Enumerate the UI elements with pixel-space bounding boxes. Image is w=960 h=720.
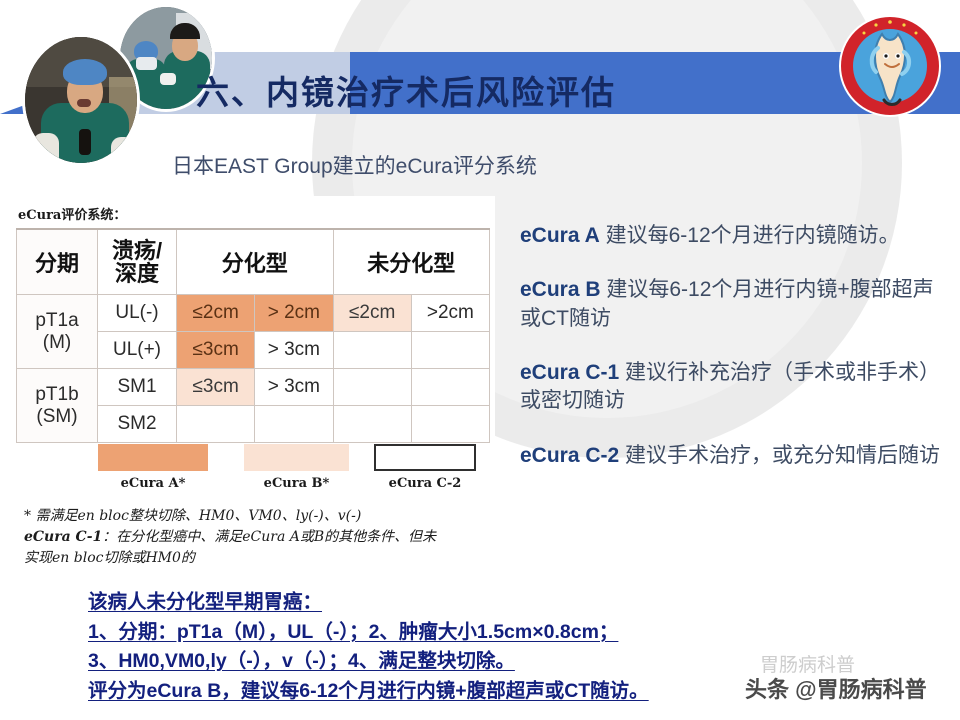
- stage-pt1b-line2: (SM): [17, 406, 97, 428]
- table-row: pT1b (SM) SM1 ≤3cm > 3cm: [17, 369, 490, 406]
- cell-undiff-small-sm2: [333, 406, 411, 443]
- recommendation-ecura-b: eCura B 建议每6-12个月进行内镜+腹部超声或CT随访: [520, 276, 945, 333]
- footnote-line-2-text: ：在分化型癌中、满足eCura A或B的其他条件、但未: [102, 529, 436, 545]
- cell-diff-large-sm2: [255, 406, 333, 443]
- legend-swatch-ecura-b: [244, 444, 349, 471]
- cell-undiff-small-ul-neg: ≤2cm: [333, 295, 411, 332]
- table-header-row: 分期 溃疡/ 深度 分化型 未分化型: [17, 229, 490, 295]
- header-ulcer-depth: 溃疡/ 深度: [98, 229, 177, 295]
- recommendation-code-a: eCura A: [520, 224, 600, 247]
- legend-label-ecura-b: eCura B*: [244, 476, 349, 491]
- legend-swatch-ecura-a: [98, 444, 208, 471]
- cell-undiff-small-sm1: [333, 369, 411, 406]
- cell-undiff-large-sm1: [411, 369, 489, 406]
- recommendation-ecura-c2: eCura C-2 建议手术治疗，或充分知情后随访: [520, 442, 945, 470]
- watermark: 头条 @胃肠病科普: [745, 672, 927, 704]
- cell-undiff-large-ul-neg: >2cm: [411, 295, 489, 332]
- stage-pt1b: pT1b (SM): [17, 369, 98, 443]
- table-row: pT1a (M) UL(-) ≤2cm > 2cm ≤2cm >2cm: [17, 295, 490, 332]
- conclusion-line-1: 该病人未分化型早期胃癌：: [88, 588, 788, 618]
- cell-undiff-large-ul-pos: [411, 332, 489, 369]
- cell-diff-large-sm1: > 3cm: [255, 369, 333, 406]
- ecura-criteria-table: 分期 溃疡/ 深度 分化型 未分化型 pT1a (M) UL(-) ≤2: [16, 228, 490, 443]
- legend-label-ecura-c2: eCura C-2: [374, 476, 476, 491]
- cell-diff-large-ul-neg: > 2cm: [255, 295, 333, 332]
- ecura-figure-panel: eCura评价系统： 分期 溃疡/ 深度 分化型 未分化型 pT1a: [10, 196, 495, 581]
- cell-undiff-large-sm2: [411, 406, 489, 443]
- footnote-line-2: eCura C-1：在分化型癌中、满足eCura A或B的其他条件、但未: [24, 527, 494, 548]
- legend: eCura A* eCura B* eCura C-2: [16, 444, 490, 502]
- footnote-code: eCura C-1: [24, 529, 102, 545]
- legend-swatch-ecura-c2: [374, 444, 476, 471]
- recommendation-text-c2: 建议手术治疗，或充分知情后随访: [625, 444, 940, 467]
- stage-pt1a-line1: pT1a: [17, 310, 97, 332]
- gastro-mascot-logo: [838, 14, 942, 118]
- cell-diff-small-ul-pos: ≤3cm: [177, 332, 255, 369]
- ulcer-ul-negative: UL(-): [98, 295, 177, 332]
- figure-footnote: * 需满足en bloc整块切除、HM0、VM0、ly(-)、v(-) eCur…: [24, 506, 494, 569]
- cell-diff-small-sm2: [177, 406, 255, 443]
- figure-caption: eCura评价系统：: [18, 204, 126, 223]
- cell-undiff-small-ul-pos: [333, 332, 411, 369]
- footnote-line-1: * 需满足en bloc整块切除、HM0、VM0、ly(-)、v(-): [24, 506, 494, 527]
- slide-canvas: 六、内镜治疗术后风险评估 日本EAST Group建立的eCura评分系统 eC…: [0, 0, 960, 720]
- recommendation-code-c2: eCura C-2: [520, 444, 619, 467]
- footnote-line-3: 实现en bloc切除或HM0的: [24, 548, 494, 569]
- conclusion-line-3: 3、HM0,VM0,ly（-），v（-）；4、满足整块切除。: [88, 647, 788, 677]
- page-subtitle: 日本EAST Group建立的eCura评分系统: [172, 150, 537, 180]
- legend-item-ecura-b: eCura B*: [244, 444, 349, 491]
- recommendation-code-c1: eCura C-1: [520, 361, 619, 384]
- stage-pt1b-line1: pT1b: [17, 384, 97, 406]
- footer-spacer: [0, 712, 960, 720]
- cell-diff-large-ul-pos: > 3cm: [255, 332, 333, 369]
- header-undifferentiated: 未分化型: [333, 229, 490, 295]
- header-stage: 分期: [17, 229, 98, 295]
- case-conclusion: 该病人未分化型早期胃癌： 1、分期：pT1a（M），UL（-）；2、肿瘤大小1.…: [88, 588, 788, 707]
- page-title: 六、内镜治疗术后风险评估: [196, 66, 616, 114]
- conclusion-line-4: 评分为eCura B，建议每6-12个月进行内镜+腹部超声或CT随访。: [88, 677, 788, 707]
- ulcer-ul-positive: UL(+): [98, 332, 177, 369]
- conclusion-line-2: 1、分期：pT1a（M），UL（-）；2、肿瘤大小1.5cm×0.8cm；: [88, 618, 788, 648]
- legend-label-ecura-a: eCura A*: [98, 476, 208, 491]
- stage-pt1a-line2: (M): [17, 332, 97, 354]
- depth-sm1: SM1: [98, 369, 177, 406]
- cell-diff-small-sm1: ≤3cm: [177, 369, 255, 406]
- cell-diff-small-ul-neg: ≤2cm: [177, 295, 255, 332]
- legend-item-ecura-c2: eCura C-2: [374, 444, 476, 491]
- recommendation-text-a: 建议每6-12个月进行内镜随访。: [606, 224, 900, 247]
- header-ulcer-line1: 溃疡/: [98, 239, 176, 262]
- legend-item-ecura-a: eCura A*: [98, 444, 208, 491]
- header-ulcer-line2: 深度: [98, 262, 176, 285]
- depth-sm2: SM2: [98, 406, 177, 443]
- recommendation-list: eCura A 建议每6-12个月进行内镜随访。 eCura B 建议每6-12…: [520, 222, 945, 496]
- recommendation-ecura-c1: eCura C-1 建议行补充治疗（手术或非手术）或密切随访: [520, 359, 945, 416]
- recommendation-code-b: eCura B: [520, 278, 601, 301]
- recommendation-ecura-a: eCura A 建议每6-12个月进行内镜随访。: [520, 222, 945, 250]
- stage-pt1a: pT1a (M): [17, 295, 98, 369]
- header-differentiated: 分化型: [177, 229, 334, 295]
- doctor-with-endoscope-photo: [22, 34, 140, 166]
